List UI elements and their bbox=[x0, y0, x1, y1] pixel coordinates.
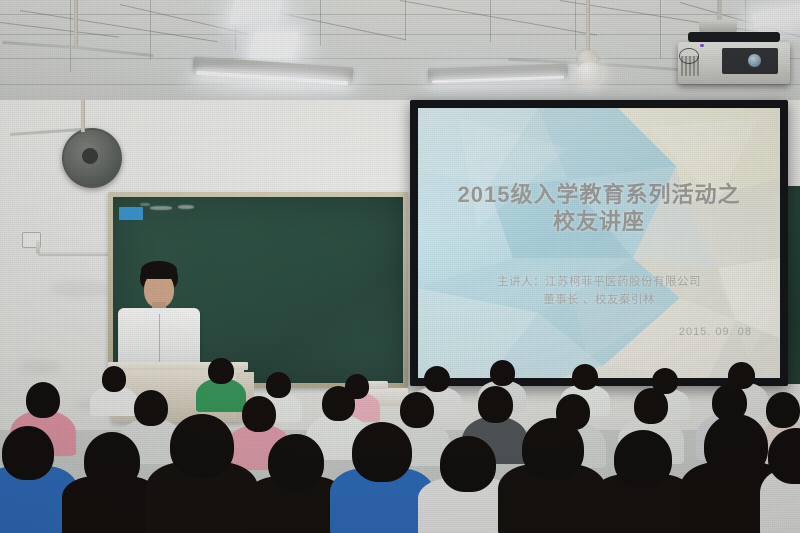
audience-member-head bbox=[26, 382, 60, 418]
speaker-hair-top bbox=[141, 261, 177, 279]
audience-member-head bbox=[322, 386, 355, 421]
audience-member-head bbox=[634, 388, 668, 424]
projector-mount-arm bbox=[717, 0, 722, 22]
slide-subtitle-line2: 董事长 、校友秦引林 bbox=[418, 292, 780, 310]
audience-member-head bbox=[266, 372, 291, 398]
audience-member-head bbox=[704, 414, 768, 478]
audience-member-head bbox=[614, 430, 672, 488]
projector-cable bbox=[679, 48, 699, 64]
slide-date: 2015. 09. 08 bbox=[679, 326, 752, 338]
projector-lens bbox=[748, 54, 761, 67]
fluorescent-tube-light bbox=[229, 0, 283, 24]
slide-title: 2015级入学教育系列活动之 校友讲座 bbox=[418, 182, 780, 236]
wall-conduit bbox=[36, 240, 40, 254]
slide-subtitle-line1: 主讲人：江苏柯菲平医药股份有限公司 bbox=[418, 274, 780, 292]
audience-member-head bbox=[268, 434, 324, 490]
audience-member-head bbox=[522, 418, 584, 480]
projection-screen-surface: 2015级入学教育系列活动之 校友讲座 主讲人：江苏柯菲平医药股份有限公司 董事… bbox=[418, 108, 780, 378]
audience-member-head bbox=[440, 436, 496, 492]
audience-member-head bbox=[352, 422, 412, 482]
ceiling bbox=[0, 0, 800, 108]
audience-member-head bbox=[242, 396, 276, 432]
classroom-photo-scene: 2015级入学教育系列活动之 校友讲座 主讲人：江苏柯菲平医药股份有限公司 董事… bbox=[0, 0, 800, 533]
audience-member-head bbox=[572, 364, 598, 390]
audience-member-head bbox=[400, 392, 434, 428]
wall-fan-pole bbox=[81, 100, 85, 132]
slide-title-line2: 校友讲座 bbox=[418, 209, 780, 236]
slide-subtitle: 主讲人：江苏柯菲平医药股份有限公司 董事长 、校友秦引林 bbox=[418, 274, 780, 310]
slide-title-line1: 2015级入学教育系列活动之 bbox=[418, 182, 780, 209]
audience-member-head bbox=[102, 366, 126, 392]
audience-member-head bbox=[208, 358, 234, 384]
audience-member-head bbox=[170, 414, 234, 478]
audience-member-head bbox=[84, 432, 140, 490]
ceiling-fan-pole bbox=[586, 0, 590, 52]
pendant-lamp bbox=[576, 62, 602, 86]
audience-member-head bbox=[424, 366, 450, 392]
fluorescent-tube-light bbox=[751, 2, 800, 27]
ceiling-fan-pole bbox=[74, 0, 78, 46]
fluorescent-tube-light bbox=[249, 32, 299, 58]
audience-member-head bbox=[766, 392, 800, 428]
chalkboard-right-panel bbox=[786, 186, 800, 384]
projector-mount-plate bbox=[699, 20, 737, 32]
presentation-slide: 2015级入学教育系列活动之 校友讲座 主讲人：江苏柯菲平医药股份有限公司 董事… bbox=[418, 108, 780, 378]
audience-seating-area bbox=[0, 358, 800, 533]
audience-member-head bbox=[134, 390, 168, 426]
audience-member-head bbox=[478, 386, 513, 423]
audience-member-head bbox=[490, 360, 515, 386]
chalkboard-sticker bbox=[119, 207, 143, 220]
projection-screen-frame: 2015级入学教育系列活动之 校友讲座 主讲人：江苏柯菲平医药股份有限公司 董事… bbox=[410, 100, 788, 386]
audience-member-head bbox=[2, 426, 54, 480]
